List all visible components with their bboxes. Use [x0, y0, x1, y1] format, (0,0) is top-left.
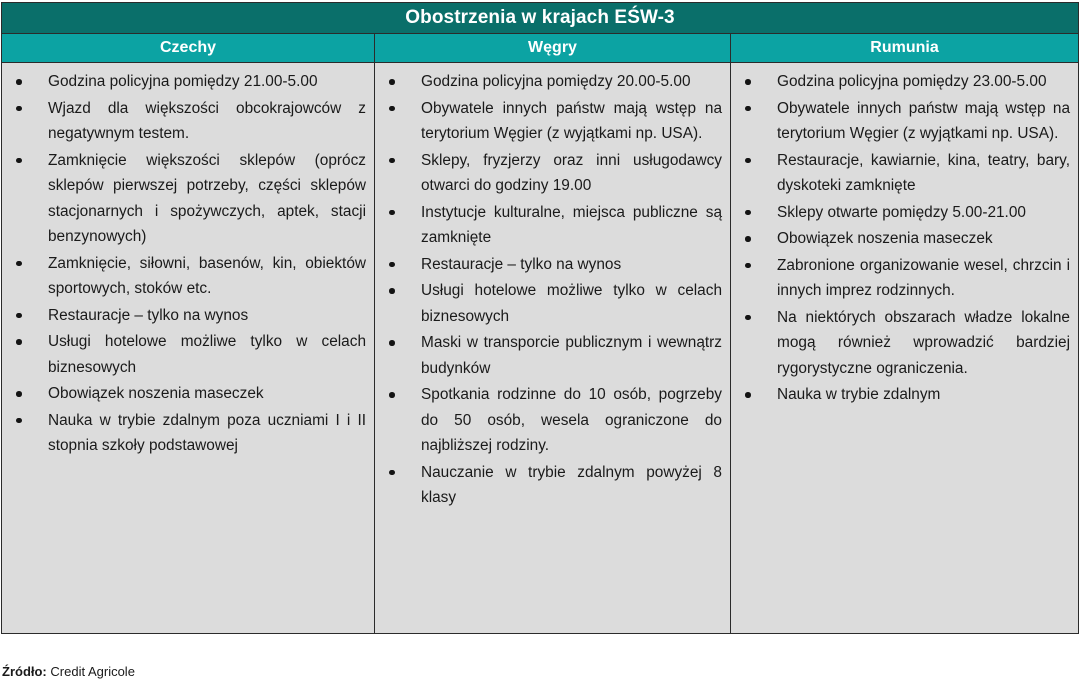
source-value: Credit Agricole [50, 664, 135, 679]
column-body-rumunia: Godzina policyjna pomiędzy 23.00-5.00Oby… [730, 63, 1078, 633]
bullet-item: Zamknięcie, siłowni, basenów, kin, obiek… [6, 251, 366, 302]
bullet-item: Nauka w trybie zdalnym poza uczniami I i… [6, 408, 366, 459]
column-header-wegry: Węgry [374, 34, 730, 62]
table-body-row: Godzina policyjna pomiędzy 21.00-5.00Wja… [2, 63, 1078, 633]
column-body-czechy: Godzina policyjna pomiędzy 21.00-5.00Wja… [2, 63, 374, 633]
bullet-item: Sklepy, fryzjerzy oraz inni usługodawcy … [379, 148, 722, 199]
bullet-item: Wjazd dla większości obcokrajowców z neg… [6, 96, 366, 147]
bullet-item: Usługi hotelowe możliwe tylko w celach b… [379, 278, 722, 329]
bullet-item: Nauka w trybie zdalnym [735, 382, 1070, 408]
bullet-item: Maski w transporcie publicznym i wewnątr… [379, 330, 722, 381]
bullet-item: Obywatele innych państw mają wstęp na te… [735, 96, 1070, 147]
restrictions-table: Obostrzenia w krajach EŚW-3 Czechy Węgry… [1, 2, 1079, 634]
bullet-item: Godzina policyjna pomiędzy 20.00-5.00 [379, 69, 722, 95]
bullet-item: Na niektórych obszarach władze lokalne m… [735, 305, 1070, 382]
bullet-list-wegry: Godzina policyjna pomiędzy 20.00-5.00Oby… [379, 69, 722, 511]
bullet-list-czechy: Godzina policyjna pomiędzy 21.00-5.00Wja… [6, 69, 366, 459]
bullet-item: Restauracje – tylko na wynos [6, 303, 366, 329]
table-header-row: Czechy Węgry Rumunia [2, 34, 1078, 63]
bullet-item: Nauczanie w trybie zdalnym powyżej 8 kla… [379, 460, 722, 511]
bullet-item: Restauracje, kawiarnie, kina, teatry, ba… [735, 148, 1070, 199]
bullet-item: Zabronione organizowanie wesel, chrzcin … [735, 253, 1070, 304]
source-label: Źródło: [2, 664, 47, 679]
column-body-wegry: Godzina policyjna pomiędzy 20.00-5.00Oby… [374, 63, 730, 633]
column-header-czechy: Czechy [2, 34, 374, 62]
source-note: Źródło: Credit Agricole [2, 663, 135, 680]
bullet-item: Obywatele innych państw mają wstęp na te… [379, 96, 722, 147]
table-title: Obostrzenia w krajach EŚW-3 [2, 3, 1078, 34]
column-header-rumunia: Rumunia [730, 34, 1078, 62]
bullet-item: Obowiązek noszenia maseczek [735, 226, 1070, 252]
page-root: Obostrzenia w krajach EŚW-3 Czechy Węgry… [0, 2, 1080, 686]
bullet-list-rumunia: Godzina policyjna pomiędzy 23.00-5.00Oby… [735, 69, 1070, 408]
bullet-item: Godzina policyjna pomiędzy 23.00-5.00 [735, 69, 1070, 95]
bullet-item: Spotkania rodzinne do 10 osób, pogrzeby … [379, 382, 722, 459]
bullet-item: Zamknięcie większości sklepów (oprócz sk… [6, 148, 366, 250]
bullet-item: Usługi hotelowe możliwe tylko w celach b… [6, 329, 366, 380]
bullet-item: Restauracje – tylko na wynos [379, 252, 722, 278]
bullet-item: Sklepy otwarte pomiędzy 5.00-21.00 [735, 200, 1070, 226]
bullet-item: Godzina policyjna pomiędzy 21.00-5.00 [6, 69, 366, 95]
bullet-item: Instytucje kulturalne, miejsca publiczne… [379, 200, 722, 251]
bullet-item: Obowiązek noszenia maseczek [6, 381, 366, 407]
